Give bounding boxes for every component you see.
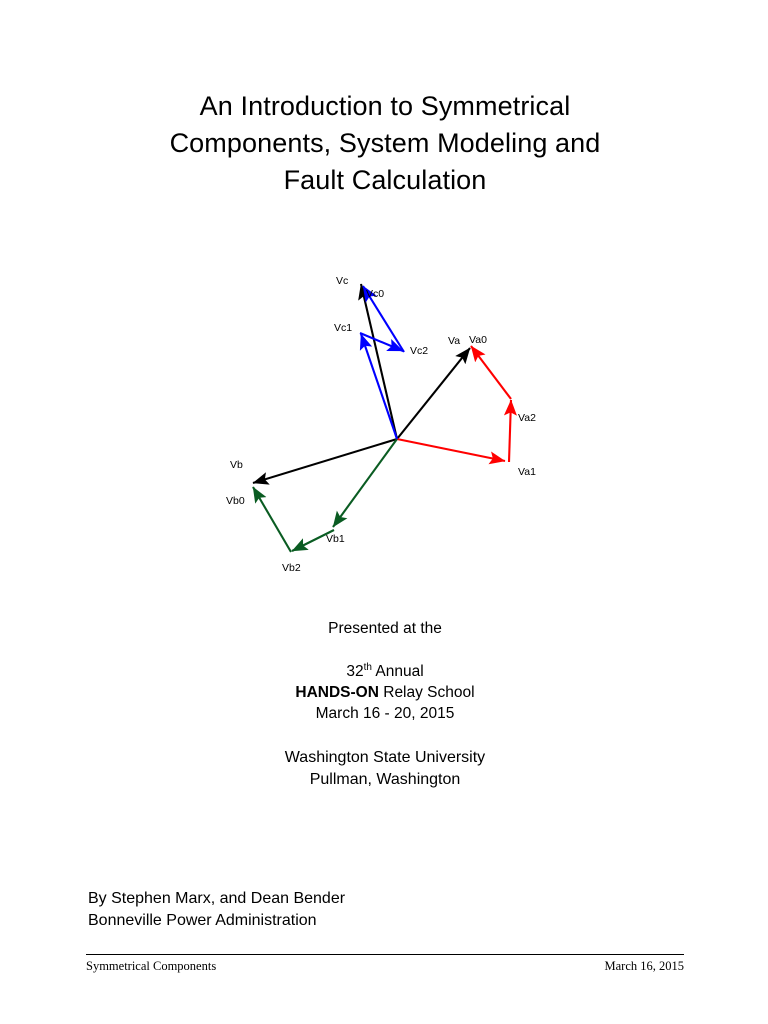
school-line: HANDS-ON Relay School <box>100 682 670 703</box>
school-name-rest: Relay School <box>379 684 475 701</box>
phasor-vc2-line <box>360 333 403 351</box>
phasor-vb2-line <box>292 530 334 551</box>
author-info: By Stephen Marx, and Dean Bender Bonnevi… <box>88 888 345 932</box>
title-line-1: An Introduction to Symmetrical <box>100 88 670 125</box>
footer-divider <box>86 954 684 955</box>
resultant-phasor-group <box>253 284 470 483</box>
footer-right-date: March 16, 2015 <box>605 959 685 974</box>
phasor-label-vc: Vc <box>336 275 348 287</box>
edition-suffix: th <box>364 662 372 673</box>
title-line-2: Components, System Modeling and <box>100 125 670 162</box>
phasor-va1-line <box>397 439 505 461</box>
phasor-va-line <box>397 348 470 439</box>
phasor-vc-line <box>361 284 397 439</box>
phasor-label-vb: Vb <box>230 459 243 471</box>
phase-a-sequence-group <box>397 346 511 462</box>
edition-number: 32 <box>346 663 363 680</box>
phase-b-sequence-group <box>253 439 397 552</box>
edition-word: Annual <box>372 663 424 680</box>
page-title: An Introduction to Symmetrical Component… <box>100 88 670 199</box>
footer-left-text: Symmetrical Components <box>86 959 216 974</box>
phasor-label-va0: Va0 <box>469 334 487 346</box>
presentation-info: Presented at the 32th Annual HANDS-ON Re… <box>100 618 670 791</box>
phasor-vc0-line <box>363 286 404 352</box>
phasor-label-vb2: Vb2 <box>282 562 301 574</box>
phasor-label-vc2: Vc2 <box>410 345 428 357</box>
phasor-va0-line <box>471 346 511 399</box>
venue-city: Pullman, Washington <box>100 769 670 791</box>
footer-row: Symmetrical Components March 16, 2015 <box>86 959 684 974</box>
phasor-label-vc0: Vc0 <box>366 288 384 300</box>
author-names: By Stephen Marx, and Dean Bender <box>88 888 345 910</box>
phasor-va2-line <box>509 400 511 462</box>
phasor-vc1-line <box>361 334 397 439</box>
phasor-label-group: Vc Vc0 Vc1 Vc2 Va Va0 Va2 Va1 Vb Vb0 Vb1… <box>226 275 536 574</box>
university-name: Washington State University <box>100 747 670 769</box>
phasor-label-va: Va <box>448 335 460 347</box>
phase-c-sequence-group <box>360 286 404 439</box>
page-footer: Symmetrical Components March 16, 2015 <box>86 954 684 974</box>
author-organization: Bonneville Power Administration <box>88 910 345 932</box>
phasor-vb0-line <box>253 487 291 552</box>
phasor-vb-line <box>253 439 397 483</box>
school-name-bold: HANDS-ON <box>295 684 379 701</box>
event-dates: March 16 - 20, 2015 <box>100 703 670 724</box>
document-page: An Introduction to Symmetrical Component… <box>0 0 768 1024</box>
presented-at-line: Presented at the <box>100 618 670 639</box>
phasor-label-vc1: Vc1 <box>334 322 352 334</box>
spacer-2 <box>100 724 670 747</box>
spacer-1 <box>100 639 670 661</box>
edition-line: 32th Annual <box>100 661 670 682</box>
phasor-vb1-line <box>333 439 397 527</box>
phasor-label-va1: Va1 <box>518 466 536 478</box>
phasor-label-vb1: Vb1 <box>326 533 345 545</box>
phasor-label-va2: Va2 <box>518 412 536 424</box>
title-line-3: Fault Calculation <box>100 162 670 199</box>
phasor-label-vb0: Vb0 <box>226 495 245 507</box>
